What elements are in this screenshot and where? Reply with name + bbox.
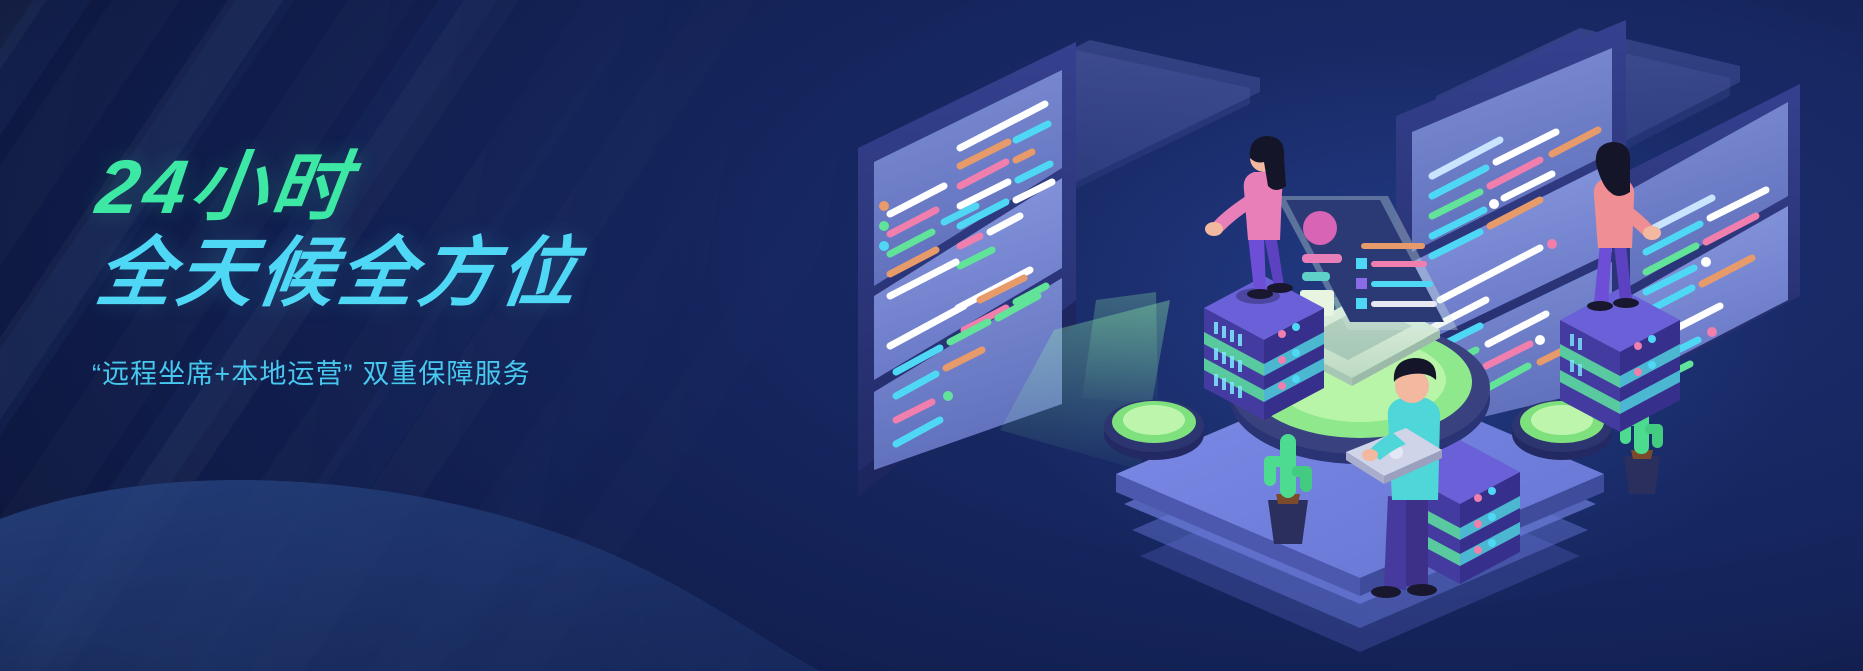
headline-line-1: 24小时 <box>92 150 863 226</box>
hero-banner: 24小时 全天候全方位 “远程坐席+本地运营” 双重保障服务 <box>0 0 1863 671</box>
headline-line-2: 全天候全方位 <box>92 236 863 312</box>
hero-subtitle: “远程坐席+本地运营” 双重保障服务 <box>92 352 852 391</box>
glow-pad-left <box>1104 400 1204 460</box>
hero-copy: 24小时 全天候全方位 “远程坐席+本地运营” 双重保障服务 <box>92 150 852 391</box>
character-woman-left <box>1205 136 1293 304</box>
hero-illustration <box>840 0 1863 671</box>
